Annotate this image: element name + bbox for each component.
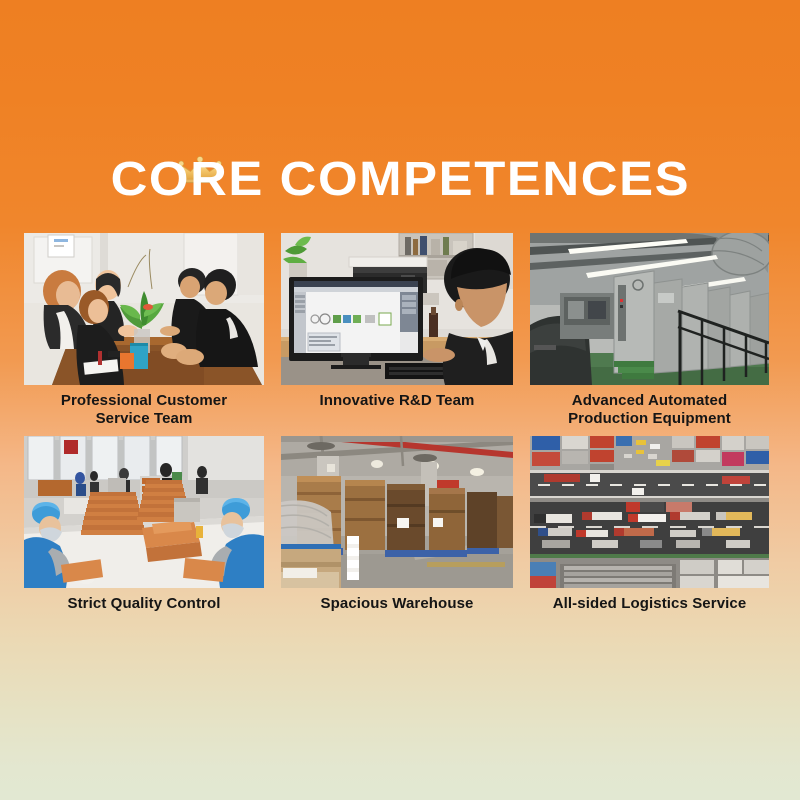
caption-line-1: Strict Quality Control	[67, 595, 220, 612]
caption-line-1: Advanced Automated	[572, 392, 727, 409]
caption-line-1: Innovative R&D Team	[320, 392, 475, 409]
competence-grid: Professional Customer Service Team	[24, 233, 777, 613]
competence-caption: All-sided Logistics Service	[530, 588, 769, 613]
competence-card-customer-service[interactable]: Professional Customer Service Team	[24, 233, 264, 428]
competence-caption: Professional Customer Service Team	[24, 385, 264, 428]
caption-line-1: Professional Customer	[61, 392, 227, 409]
competence-row: Strict Quality Control	[24, 436, 777, 613]
caption-line-2: Service Team	[24, 410, 264, 428]
competence-card-logistics[interactable]: All-sided Logistics Service	[530, 436, 769, 613]
all-sided-logistics-service-photo	[530, 436, 769, 588]
competence-caption: Spacious Warehouse	[281, 588, 513, 613]
competence-card-production-equipment[interactable]: Advanced Automated Production Equipment	[530, 233, 769, 428]
innovative-rd-team-photo	[281, 233, 513, 385]
competence-caption: Strict Quality Control	[24, 588, 264, 613]
competence-row: Professional Customer Service Team	[24, 233, 777, 428]
caption-line-2: Production Equipment	[530, 410, 769, 428]
professional-customer-service-team-photo	[24, 233, 264, 385]
spacious-warehouse-photo	[281, 436, 513, 588]
strict-quality-control-photo	[24, 436, 264, 588]
caption-line-1: All-sided Logistics Service	[553, 595, 747, 612]
page-title: CORE COMPETENCES	[110, 150, 690, 210]
advanced-automated-production-equipment-photo	[530, 233, 769, 385]
promo-banner: CORE COMPETENCES	[0, 0, 800, 800]
competence-card-warehouse[interactable]: Spacious Warehouse	[281, 436, 513, 613]
caption-line-1: Spacious Warehouse	[321, 595, 474, 612]
competence-card-quality-control[interactable]: Strict Quality Control	[24, 436, 264, 613]
competence-card-rd-team[interactable]: Innovative R&D Team	[281, 233, 513, 428]
competence-caption: Advanced Automated Production Equipment	[530, 385, 769, 428]
competence-caption: Innovative R&D Team	[281, 385, 513, 410]
page-title-block: CORE COMPETENCES	[0, 150, 800, 210]
